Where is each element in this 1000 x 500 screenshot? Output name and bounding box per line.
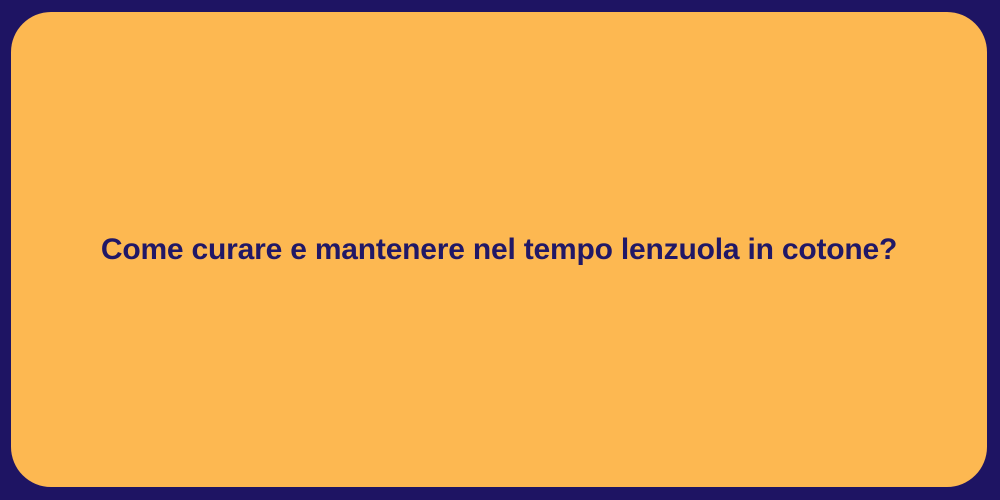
banner-panel: Come curare e mantenere nel tempo lenzuo…	[11, 12, 987, 487]
page-title: Come curare e mantenere nel tempo lenzuo…	[50, 231, 948, 269]
banner-frame: Come curare e mantenere nel tempo lenzuo…	[0, 0, 1000, 500]
